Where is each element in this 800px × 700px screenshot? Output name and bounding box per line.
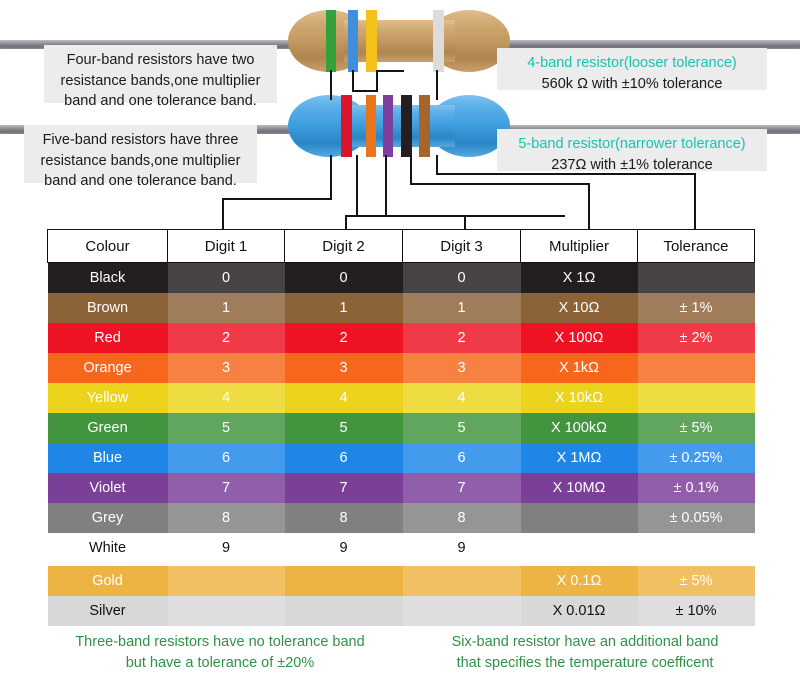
cell-multiplier: X 10Ω — [521, 293, 638, 323]
cell-multiplier: X 0.1Ω — [521, 566, 638, 596]
table-row: Yellow444X 10kΩ — [48, 383, 755, 413]
cell-tolerance-text: ± 10% — [638, 603, 755, 619]
connector-4band-green — [330, 70, 332, 100]
cell-tolerance: ± 5% — [638, 566, 755, 596]
callout-four-band-value: 4-band resistor(looser tolerance) 560k Ω… — [497, 48, 767, 90]
cell-multiplier-text: X 0.1Ω — [521, 573, 638, 589]
connector-4band-blue-v1 — [352, 70, 354, 92]
four-band-resistor-illustration — [288, 10, 510, 72]
cell-digit-3-text: 9 — [403, 540, 521, 556]
callout-five-band-description: Five-band resistors have three resistanc… — [24, 125, 257, 183]
band-black-multiplier — [401, 95, 412, 157]
cell-multiplier — [521, 533, 638, 563]
cell-digit-3-text: 0 — [403, 270, 521, 286]
cell-colour-name: Orange — [48, 353, 168, 383]
cell-multiplier: X 0.01Ω — [521, 596, 638, 626]
band-green-digit1 — [326, 10, 336, 72]
cell-colour-name: Gold — [48, 566, 168, 596]
cell-tolerance — [638, 383, 755, 413]
connector-5band-violet-v — [385, 155, 387, 217]
band-silver-tolerance — [433, 10, 444, 72]
cell-digit-1-text: 1 — [168, 300, 285, 316]
cell-digit-3: 8 — [403, 503, 521, 533]
cell-tolerance: ± 5% — [638, 413, 755, 443]
cell-digit-3: 4 — [403, 383, 521, 413]
five-band-resistor-illustration — [288, 95, 510, 157]
cell-tolerance-text: ± 0.05% — [638, 510, 755, 526]
cell-digit-2: 4 — [285, 383, 403, 413]
table-header-row: Colour Digit 1 Digit 2 Digit 3 Multiplie… — [48, 230, 755, 263]
cell-digit-1-text: 7 — [168, 480, 285, 496]
cell-multiplier-text: X 10MΩ — [521, 480, 638, 496]
footnote-three-band: Three-band resistors have no tolerance b… — [60, 632, 380, 674]
connector-5band-black-to-multiplier — [588, 183, 590, 230]
cell-colour-name: Red — [48, 323, 168, 353]
cell-digit-3-text: 6 — [403, 450, 521, 466]
cell-colour-name-text: Red — [48, 330, 168, 346]
cell-tolerance — [638, 263, 755, 294]
four-band-title-text: 4-band resistor(looser tolerance) — [507, 53, 757, 74]
cell-digit-1: 9 — [168, 533, 285, 563]
callout-four-band-description: Four-band resistors have two resistance … — [44, 45, 277, 103]
cell-digit-1: 8 — [168, 503, 285, 533]
cell-multiplier: X 10kΩ — [521, 383, 638, 413]
cell-digit-1-text: 4 — [168, 390, 285, 406]
cell-colour-name: Green — [48, 413, 168, 443]
cell-digit-2-text: 6 — [285, 450, 403, 466]
band-orange-digit2 — [366, 95, 376, 157]
cell-digit-3 — [403, 566, 521, 596]
four-band-description-text: Four-band resistors have two resistance … — [61, 52, 261, 109]
callout-five-band-value: 5-band resistor(narrower tolerance) 237Ω… — [497, 129, 767, 171]
cell-colour-name-text: Brown — [48, 300, 168, 316]
cell-digit-3-text: 3 — [403, 360, 521, 376]
cell-multiplier-text: X 0.01Ω — [521, 603, 638, 619]
cell-tolerance: ± 1% — [638, 293, 755, 323]
cell-digit-2: 1 — [285, 293, 403, 323]
cell-digit-1: 3 — [168, 353, 285, 383]
cell-digit-2 — [285, 566, 403, 596]
cell-colour-name: Violet — [48, 473, 168, 503]
cell-tolerance-text: ± 2% — [638, 330, 755, 346]
cell-tolerance-text: ± 0.1% — [638, 480, 755, 496]
connector-4band-blue-h — [352, 90, 378, 92]
cell-multiplier-text: X 10kΩ — [521, 390, 638, 406]
table-row: Orange333X 1kΩ — [48, 353, 755, 383]
cell-digit-2: 9 — [285, 533, 403, 563]
cell-digit-2-text: 5 — [285, 420, 403, 436]
cell-digit-3-text: 2 — [403, 330, 521, 346]
cell-digit-2-text: 3 — [285, 360, 403, 376]
band-blue-digit2 — [348, 10, 358, 72]
table-head: Colour Digit 1 Digit 2 Digit 3 Multiplie… — [48, 230, 755, 263]
cell-multiplier-text: X 1Ω — [521, 270, 638, 286]
table-row: Brown111X 10Ω± 1% — [48, 293, 755, 323]
connector-5band-black-h — [410, 183, 590, 185]
footnote-six-band-line2: that specifies the temperature coefficen… — [420, 653, 750, 674]
cell-colour-name-text: Orange — [48, 360, 168, 376]
column-header-digit-3: Digit 3 — [403, 230, 521, 263]
table-row: SilverX 0.01Ω± 10% — [48, 596, 755, 626]
cell-multiplier-text: X 100kΩ — [521, 420, 638, 436]
cell-digit-2-text: 9 — [285, 540, 403, 556]
cell-tolerance — [638, 533, 755, 563]
column-header-colour: Colour — [48, 230, 168, 263]
connector-5band-brown-to-tolerance — [694, 173, 696, 230]
connector-5band-red-h — [222, 198, 332, 200]
cell-digit-1: 6 — [168, 443, 285, 473]
cell-tolerance-text: ± 5% — [638, 573, 755, 589]
cell-tolerance-text: ± 5% — [638, 420, 755, 436]
five-band-title-text: 5-band resistor(narrower tolerance) — [507, 134, 757, 155]
band-red-digit1 — [341, 95, 352, 157]
cell-digit-1 — [168, 566, 285, 596]
cell-tolerance: ± 10% — [638, 596, 755, 626]
cell-digit-3: 5 — [403, 413, 521, 443]
cell-colour-name-text: Grey — [48, 510, 168, 526]
cell-digit-2: 7 — [285, 473, 403, 503]
table-row: Black000X 1Ω — [48, 263, 755, 294]
cell-digit-2: 3 — [285, 353, 403, 383]
cell-digit-1-text: 6 — [168, 450, 285, 466]
band-yellow-multiplier — [366, 10, 377, 72]
cell-digit-1: 0 — [168, 263, 285, 294]
cell-digit-2-text: 0 — [285, 270, 403, 286]
table-row: Red222X 100Ω± 2% — [48, 323, 755, 353]
cell-digit-1: 7 — [168, 473, 285, 503]
cell-digit-1-text: 8 — [168, 510, 285, 526]
resistor-body-barrel — [344, 105, 455, 147]
cell-multiplier — [521, 503, 638, 533]
cell-tolerance: ± 2% — [638, 323, 755, 353]
table-row: Green555X 100kΩ± 5% — [48, 413, 755, 443]
footnote-six-band: Six-band resistor have an additional ban… — [420, 632, 750, 674]
cell-digit-3: 2 — [403, 323, 521, 353]
column-header-digit-1: Digit 1 — [168, 230, 285, 263]
cell-digit-3: 3 — [403, 353, 521, 383]
cell-colour-name: Blue — [48, 443, 168, 473]
column-header-multiplier: Multiplier — [521, 230, 638, 263]
cell-digit-2-text: 8 — [285, 510, 403, 526]
cell-digit-3-text: 7 — [403, 480, 521, 496]
four-band-value-text: 560k Ω with ±10% tolerance — [507, 74, 757, 95]
cell-digit-2-text: 2 — [285, 330, 403, 346]
cell-digit-2 — [285, 596, 403, 626]
band-violet-digit3 — [383, 95, 393, 157]
table-body: Black000X 1ΩBrown111X 10Ω± 1%Red222X 100… — [48, 263, 755, 627]
cell-digit-3: 7 — [403, 473, 521, 503]
cell-digit-1: 2 — [168, 323, 285, 353]
cell-digit-1-text: 0 — [168, 270, 285, 286]
cell-digit-3-text: 1 — [403, 300, 521, 316]
cell-digit-2: 6 — [285, 443, 403, 473]
cell-digit-1 — [168, 596, 285, 626]
cell-multiplier-text: X 1kΩ — [521, 360, 638, 376]
cell-colour-name: White — [48, 533, 168, 563]
cell-digit-3-text: 5 — [403, 420, 521, 436]
cell-digit-2: 0 — [285, 263, 403, 294]
cell-multiplier: X 1kΩ — [521, 353, 638, 383]
cell-digit-3-text: 8 — [403, 510, 521, 526]
cell-digit-2: 2 — [285, 323, 403, 353]
cell-multiplier: X 1MΩ — [521, 443, 638, 473]
column-header-tolerance: Tolerance — [638, 230, 755, 263]
cell-multiplier: X 100Ω — [521, 323, 638, 353]
footnote-six-band-line1: Six-band resistor have an additional ban… — [420, 632, 750, 653]
connector-5band-red-to-digit1 — [222, 198, 224, 230]
cell-digit-3: 9 — [403, 533, 521, 563]
table-row: Violet777X 10MΩ± 0.1% — [48, 473, 755, 503]
cell-digit-1: 1 — [168, 293, 285, 323]
cell-tolerance: ± 0.1% — [638, 473, 755, 503]
cell-digit-1-text: 9 — [168, 540, 285, 556]
cell-colour-name: Brown — [48, 293, 168, 323]
cell-colour-name: Grey — [48, 503, 168, 533]
cell-digit-1: 4 — [168, 383, 285, 413]
cell-digit-2: 8 — [285, 503, 403, 533]
cell-digit-2-text: 4 — [285, 390, 403, 406]
band-brown-tolerance — [419, 95, 430, 157]
cell-digit-3: 0 — [403, 263, 521, 294]
connector-5band-orange-v — [356, 155, 358, 217]
cell-digit-1-text: 5 — [168, 420, 285, 436]
cell-colour-name-text: White — [48, 540, 168, 556]
five-band-description-text: Five-band resistors have three resistanc… — [41, 132, 241, 189]
connector-5band-black-v — [410, 155, 412, 185]
footnote-three-band-line2: but have a tolerance of ±20% — [60, 653, 380, 674]
cell-digit-3: 1 — [403, 293, 521, 323]
table-row: White999 — [48, 533, 755, 563]
cell-digit-3-text: 4 — [403, 390, 521, 406]
chart-canvas: Four-band resistors have two resistance … — [0, 0, 800, 700]
cell-digit-1-text: 2 — [168, 330, 285, 346]
cell-tolerance: ± 0.25% — [638, 443, 755, 473]
cell-multiplier-text: X 1MΩ — [521, 450, 638, 466]
footnote-three-band-line1: Three-band resistors have no tolerance b… — [60, 632, 380, 653]
cell-colour-name: Yellow — [48, 383, 168, 413]
cell-digit-2-text: 7 — [285, 480, 403, 496]
cell-tolerance: ± 0.05% — [638, 503, 755, 533]
table-row: GoldX 0.1Ω± 5% — [48, 566, 755, 596]
cell-multiplier: X 100kΩ — [521, 413, 638, 443]
cell-multiplier-text: X 100Ω — [521, 330, 638, 346]
cell-colour-name-text: Yellow — [48, 390, 168, 406]
cell-colour-name-text: Gold — [48, 573, 168, 589]
cell-digit-3 — [403, 596, 521, 626]
cell-multiplier-text: X 10Ω — [521, 300, 638, 316]
connector-5band-violet-h — [345, 215, 565, 217]
table-row: Grey888± 0.05% — [48, 503, 755, 533]
cell-colour-name-text: Black — [48, 270, 168, 286]
cell-tolerance-text: ± 0.25% — [638, 450, 755, 466]
cell-colour-name: Black — [48, 263, 168, 294]
connector-5band-brown-h — [436, 173, 696, 175]
cell-digit-3: 6 — [403, 443, 521, 473]
cell-digit-2-text: 1 — [285, 300, 403, 316]
cell-multiplier: X 1Ω — [521, 263, 638, 294]
cell-colour-name: Silver — [48, 596, 168, 626]
connector-5band-red-v — [330, 155, 332, 200]
table-row: Blue666X 1MΩ± 0.25% — [48, 443, 755, 473]
connector-4band-silver — [436, 70, 438, 100]
connector-4band-yellow-h — [376, 70, 404, 72]
connector-4band-blue-v2 — [376, 70, 378, 92]
cell-colour-name-text: Silver — [48, 603, 168, 619]
connector-5band-brown-v — [436, 155, 438, 175]
cell-multiplier: X 10MΩ — [521, 473, 638, 503]
cell-digit-2: 5 — [285, 413, 403, 443]
cell-colour-name-text: Violet — [48, 480, 168, 496]
column-header-digit-2: Digit 2 — [285, 230, 403, 263]
cell-digit-1: 5 — [168, 413, 285, 443]
cell-colour-name-text: Green — [48, 420, 168, 436]
cell-colour-name-text: Blue — [48, 450, 168, 466]
cell-digit-1-text: 3 — [168, 360, 285, 376]
cell-tolerance-text: ± 1% — [638, 300, 755, 316]
cell-tolerance — [638, 353, 755, 383]
resistor-colour-code-table: Colour Digit 1 Digit 2 Digit 3 Multiplie… — [47, 229, 755, 626]
